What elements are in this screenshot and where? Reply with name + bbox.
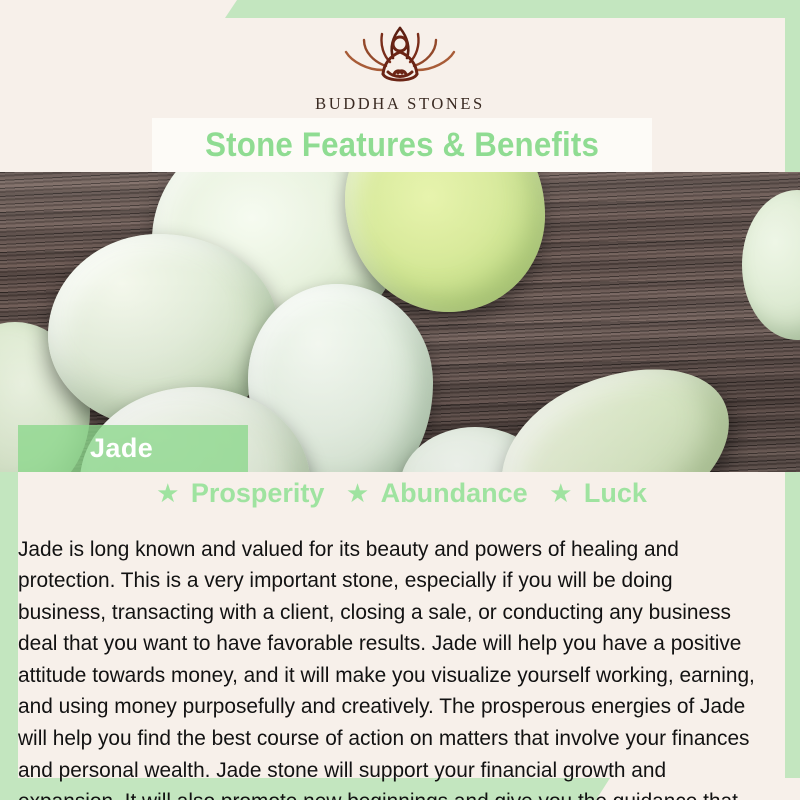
keyword-abundance: Abundance [381,478,528,509]
stone-name-badge: Jade [18,425,248,472]
lotus-meditation-icon [330,18,470,90]
star-icon: ★ [346,478,369,509]
page-title: Stone Features & Benefits [205,126,599,165]
star-icon: ★ [549,478,572,509]
brand-block: BUDDHA STONES [0,18,800,114]
stone-description: Jade is long known and valued for its be… [18,534,762,800]
keyword-list: ★ Prosperity ★ Abundance ★ Luck [0,478,800,509]
decoration-top-right-bar [225,0,800,18]
keyword-luck: Luck [584,478,647,509]
title-banner: Stone Features & Benefits [152,118,652,172]
brand-name: BUDDHA STONES [0,94,800,114]
star-icon: ★ [156,478,179,509]
poster-root: BUDDHA STONES Stone Features & Benefits … [0,0,800,800]
keyword-prosperity: Prosperity [191,478,325,509]
stone-name: Jade [90,433,153,464]
